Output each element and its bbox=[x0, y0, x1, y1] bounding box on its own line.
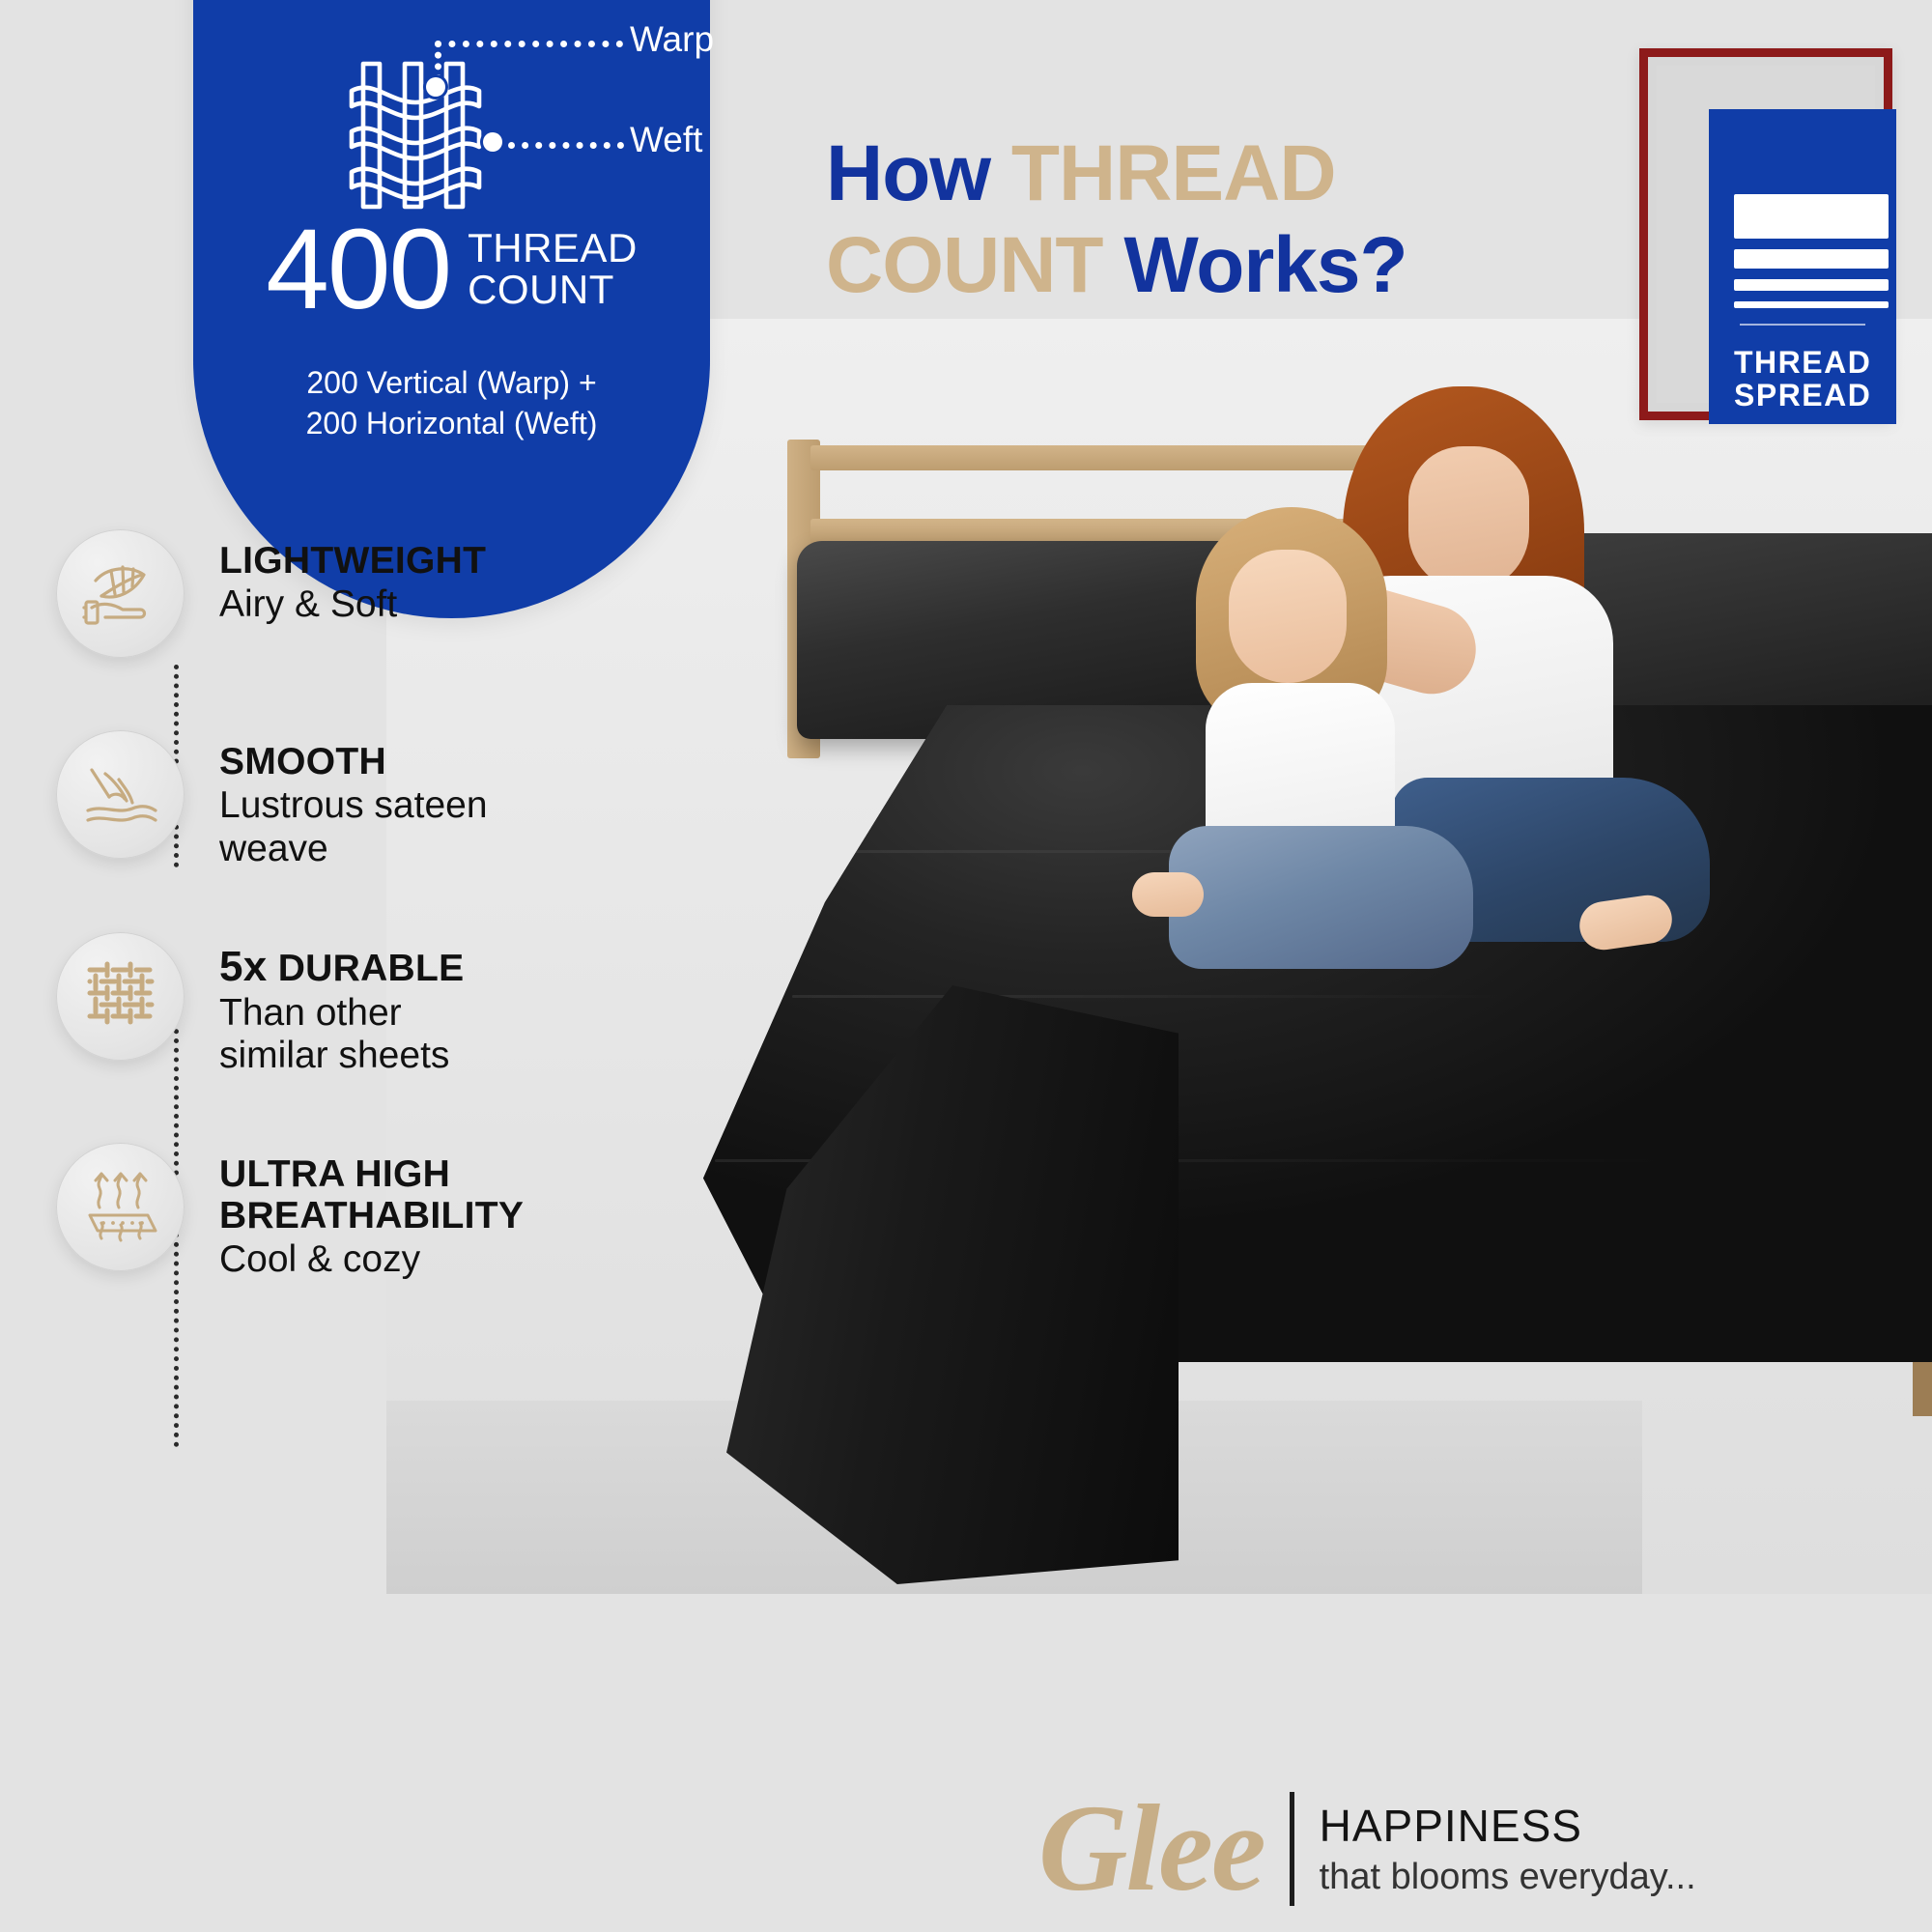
thread-count-badge: Warp Weft 400 THREAD COUNT 200 Vertical … bbox=[193, 0, 710, 618]
child-face bbox=[1229, 550, 1347, 683]
feature-subtitle: Lustrous sateen weave bbox=[219, 784, 538, 870]
title-word-count: COUNT bbox=[826, 221, 1103, 309]
feature-icon-circle bbox=[56, 932, 185, 1061]
wall-art-frame: THREAD SPREAD bbox=[1639, 48, 1892, 420]
thread-spread-logo-card: THREAD SPREAD bbox=[1709, 109, 1896, 424]
child-foot bbox=[1132, 872, 1204, 917]
child-jeans bbox=[1169, 826, 1473, 969]
brand-footer: Glee HAPPINESS that blooms everyday... bbox=[1038, 1792, 1696, 1906]
thread-count-label-line2: COUNT bbox=[468, 270, 638, 311]
feature-title-prefix: 5x bbox=[219, 943, 268, 990]
brand-tagline-line2: that blooms everyday... bbox=[1320, 1856, 1696, 1900]
bar-medium-icon bbox=[1734, 249, 1889, 269]
logo-brand-name: THREAD SPREAD bbox=[1734, 347, 1871, 412]
warp-leader-line-v bbox=[435, 41, 441, 81]
weft-leader-knob-icon bbox=[483, 132, 502, 152]
brand-name: Glee bbox=[1038, 1793, 1264, 1904]
feature-text: LIGHTWEIGHT Airy & Soft bbox=[219, 529, 486, 627]
warp-label: Warp bbox=[630, 19, 714, 60]
bar-thin-icon bbox=[1734, 279, 1889, 291]
bar-hairline-icon bbox=[1734, 301, 1889, 308]
thread-count-label: THREAD COUNT bbox=[468, 228, 638, 311]
feature-icon-circle bbox=[56, 1143, 185, 1271]
logo-brand-line2: SPREAD bbox=[1734, 380, 1871, 412]
bar-thick-icon bbox=[1734, 194, 1889, 239]
weft-label: Weft bbox=[630, 120, 702, 160]
badge-content: Warp Weft 400 THREAD COUNT 200 Vertical … bbox=[193, 0, 710, 618]
breathable-sheet-airflow-icon bbox=[78, 1165, 163, 1250]
feature-text: 5x DURABLE Than other similar sheets bbox=[219, 932, 509, 1077]
hand-touching-fabric-icon bbox=[80, 754, 161, 836]
logo-divider bbox=[1740, 324, 1865, 326]
feature-title: 5x DURABLE bbox=[219, 944, 509, 990]
feature-text: ULTRA HIGH BREATHABILITY Cool & cozy bbox=[219, 1143, 567, 1281]
woven-grid-icon bbox=[80, 956, 161, 1037]
feature-icon-circle bbox=[56, 730, 185, 859]
feature-subtitle: Cool & cozy bbox=[219, 1238, 567, 1281]
page-title: How THREAD COUNT Works? bbox=[826, 128, 1541, 311]
sheet-fold bbox=[792, 995, 1526, 998]
breakdown-warp: 200 Vertical (Warp) + bbox=[193, 362, 710, 403]
feature-title: LIGHTWEIGHT bbox=[219, 541, 486, 582]
title-word-thread: THREAD bbox=[1011, 129, 1336, 217]
feature-subtitle: Airy & Soft bbox=[219, 583, 486, 626]
warp-leader-line-h bbox=[435, 41, 623, 47]
hand-holding-feather-icon bbox=[80, 554, 161, 635]
feature-item-smooth[interactable]: SMOOTH Lustrous sateen weave bbox=[56, 730, 674, 870]
feature-icon-circle bbox=[56, 529, 185, 658]
warp-leader-knob-icon bbox=[426, 77, 445, 97]
logo-bars-group bbox=[1734, 194, 1871, 308]
title-word-how: How bbox=[826, 129, 990, 217]
feature-item-breathability[interactable]: ULTRA HIGH BREATHABILITY Cool & cozy bbox=[56, 1143, 674, 1281]
feature-title: SMOOTH bbox=[219, 742, 538, 782]
breakdown-weft: 200 Horizontal (Weft) bbox=[193, 403, 710, 443]
weft-leader-line-h bbox=[508, 142, 624, 149]
thread-count-label-line1: THREAD bbox=[468, 228, 638, 270]
feature-item-lightweight[interactable]: LIGHTWEIGHT Airy & Soft bbox=[56, 529, 674, 658]
brand-tagline-line1: HAPPINESS bbox=[1320, 1802, 1696, 1852]
infographic-canvas: THREAD SPREAD How THREAD COUNT Works? bbox=[0, 0, 1932, 1932]
thread-count-breakdown: 200 Vertical (Warp) + 200 Horizontal (We… bbox=[193, 362, 710, 443]
feature-title-main: DURABLE bbox=[278, 948, 465, 989]
person-child bbox=[1159, 507, 1478, 961]
thread-count-number: 400 bbox=[266, 217, 450, 323]
feature-subtitle: Than other similar sheets bbox=[219, 992, 509, 1078]
title-word-works: Works? bbox=[1123, 221, 1406, 309]
thread-count-readout: 400 THREAD COUNT bbox=[193, 217, 710, 323]
feature-list: LIGHTWEIGHT Airy & Soft bbox=[56, 529, 674, 1281]
feature-item-durable[interactable]: 5x DURABLE Than other similar sheets bbox=[56, 932, 674, 1077]
brand-tagline: HAPPINESS that blooms everyday... bbox=[1320, 1798, 1696, 1899]
logo-brand-line1: THREAD bbox=[1734, 347, 1871, 380]
woven-fabric-icon bbox=[348, 58, 483, 213]
feature-title: ULTRA HIGH BREATHABILITY bbox=[219, 1154, 567, 1236]
brand-divider bbox=[1290, 1792, 1294, 1906]
feature-text: SMOOTH Lustrous sateen weave bbox=[219, 730, 538, 870]
frame-mat: THREAD SPREAD bbox=[1657, 66, 1875, 403]
